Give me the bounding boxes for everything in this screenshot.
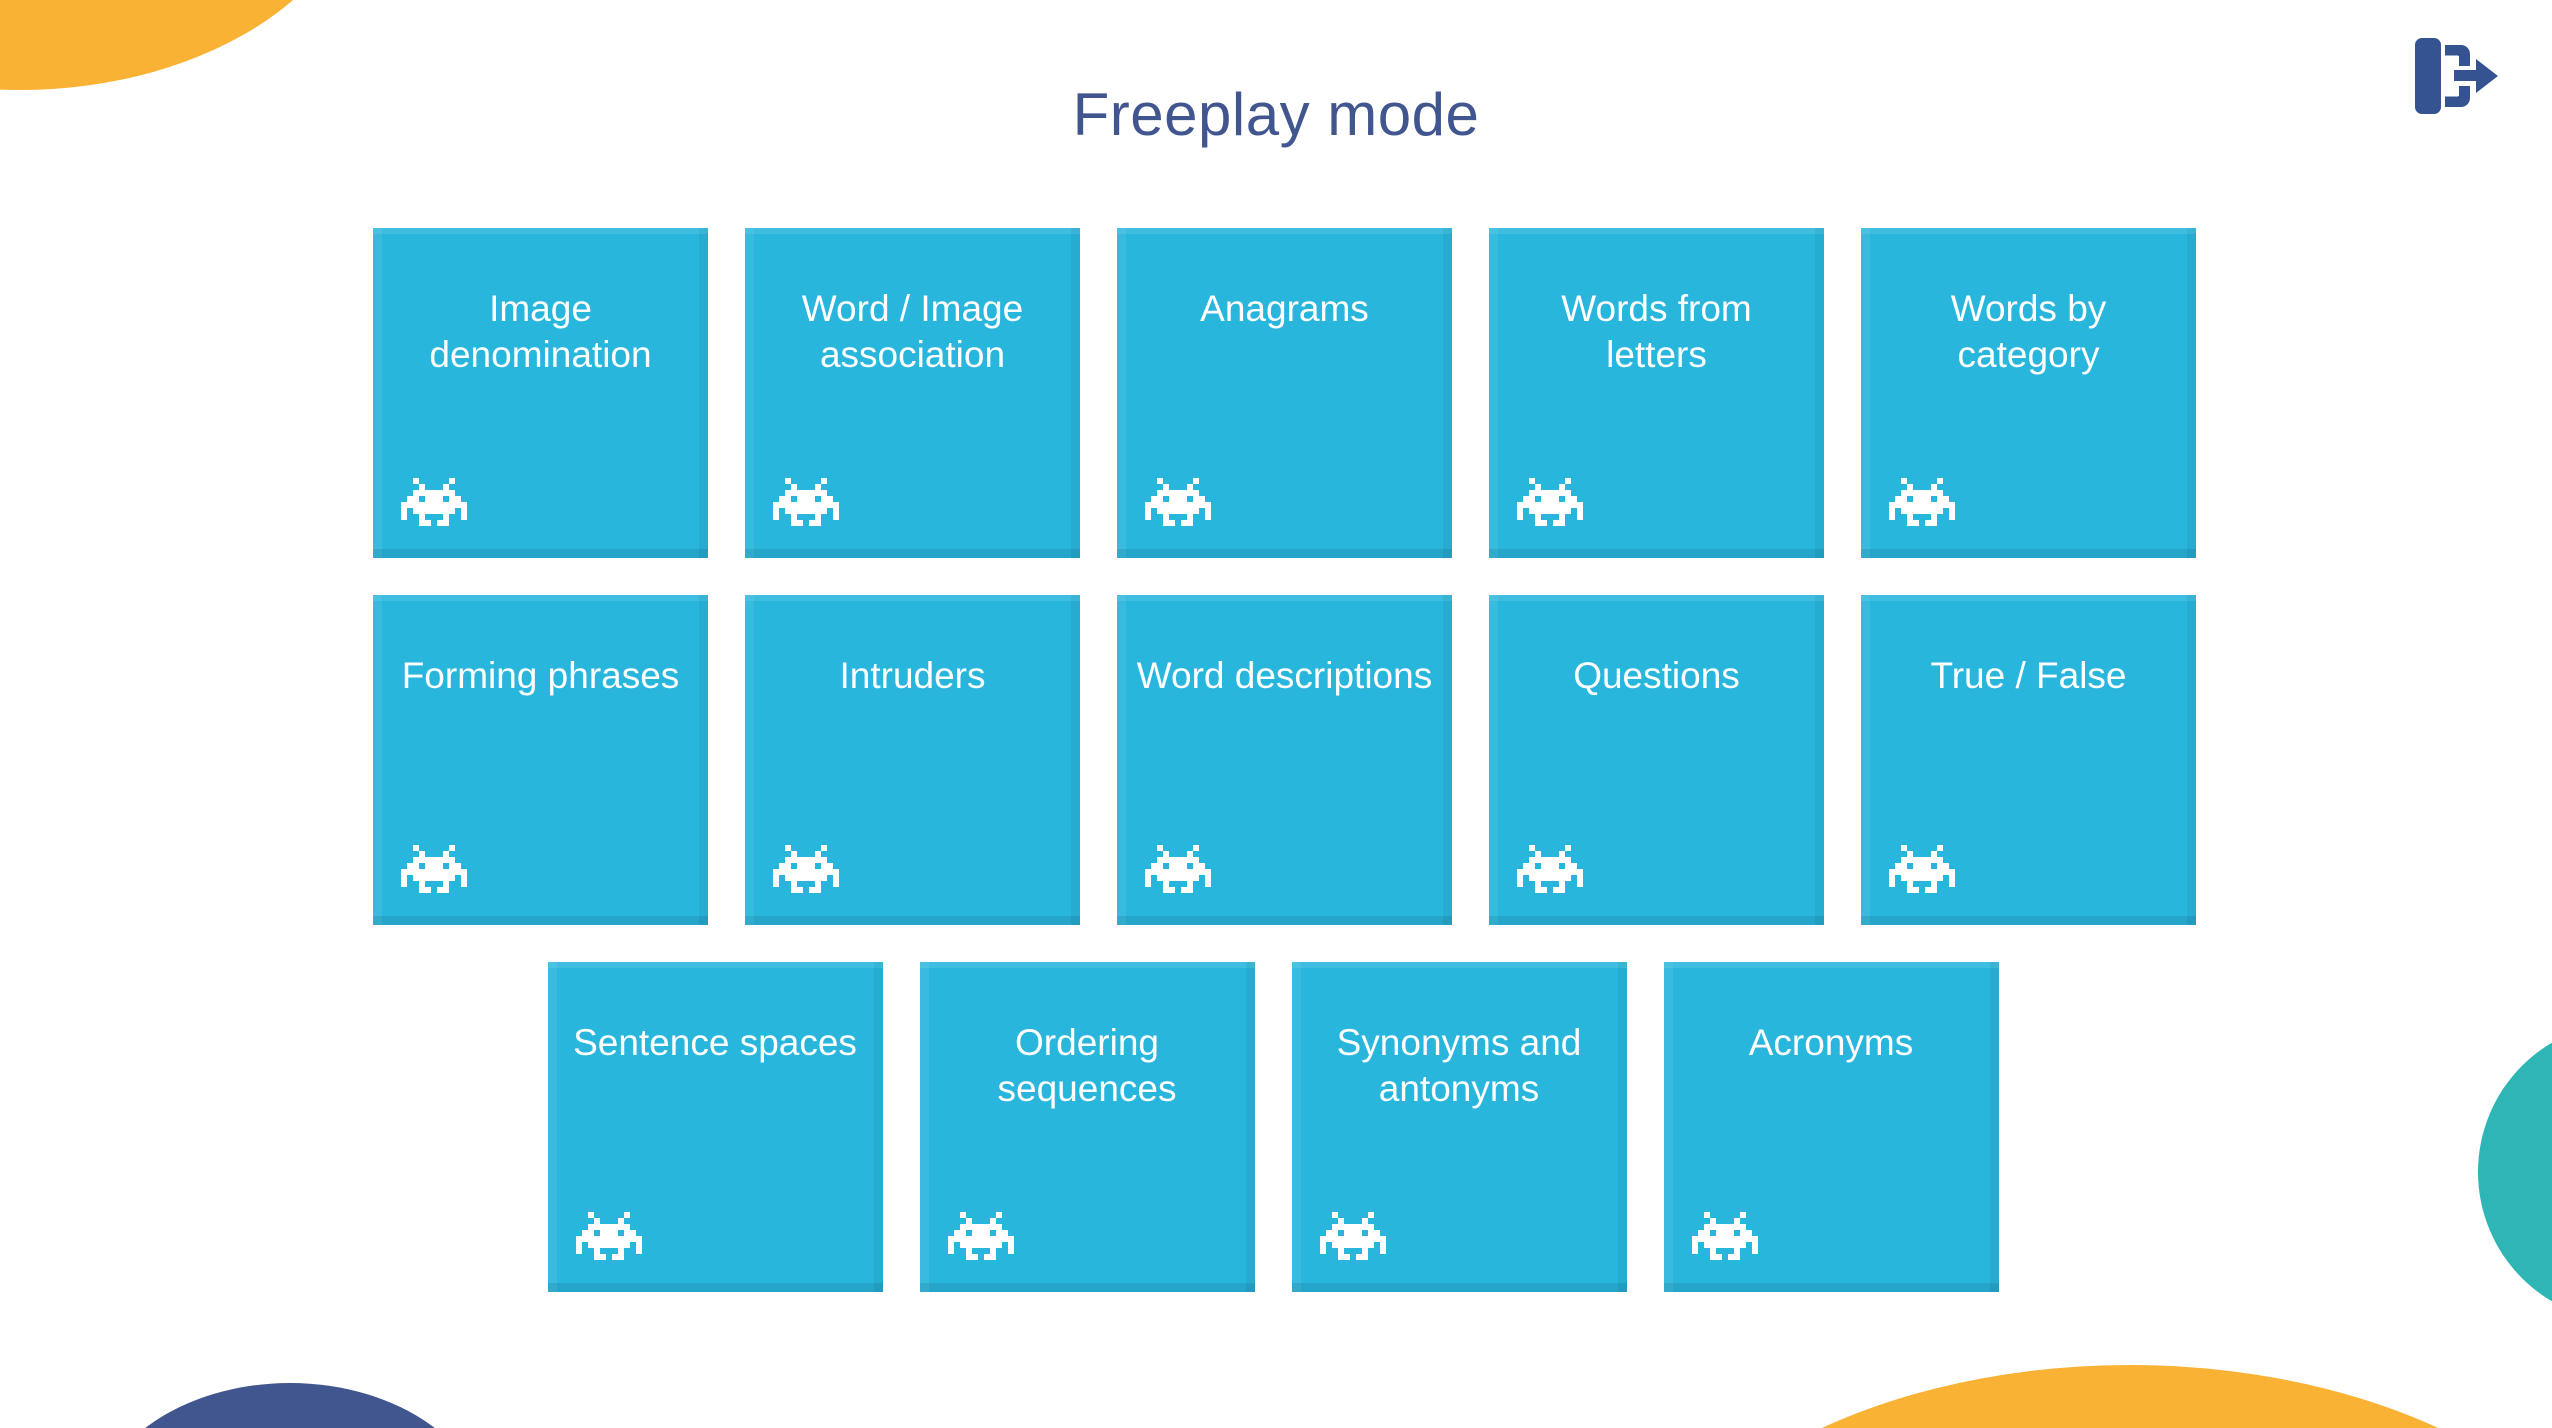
tile-row: Image denomination <box>373 228 2173 558</box>
tile-intruders[interactable]: Intruders <box>745 595 1080 925</box>
tile-label: Intruders <box>763 653 1062 699</box>
tile-label: Words by category <box>1879 286 2178 378</box>
decorative-blob-bottom-right <box>1620 1365 2552 1428</box>
tile-row: Sentence spaces <box>373 962 2173 1292</box>
space-invader-icon <box>576 1212 642 1260</box>
space-invader-icon <box>1517 845 1583 893</box>
space-invader-icon <box>1320 1212 1386 1260</box>
decorative-blob-bottom-left <box>90 1383 490 1428</box>
tile-label: Anagrams <box>1135 286 1434 332</box>
tile-questions[interactable]: Questions <box>1489 595 1824 925</box>
tile-sentence-spaces[interactable]: Sentence spaces <box>548 962 883 1292</box>
space-invader-icon <box>1889 845 1955 893</box>
decorative-blob-right-teal <box>2478 1022 2552 1322</box>
tile-label: Questions <box>1507 653 1806 699</box>
tile-acronyms[interactable]: Acronyms <box>1664 962 1999 1292</box>
tile-ordering-sequences[interactable]: Ordering sequences <box>920 962 1255 1292</box>
tile-label: Image denomination <box>391 286 690 378</box>
space-invader-icon <box>401 845 467 893</box>
space-invader-icon <box>1145 478 1211 526</box>
tile-label: Words from letters <box>1507 286 1806 378</box>
space-invader-icon <box>773 478 839 526</box>
tile-image-denomination[interactable]: Image denomination <box>373 228 708 558</box>
space-invader-icon <box>401 478 467 526</box>
tile-label: Word / Image association <box>763 286 1062 378</box>
tile-word-descriptions[interactable]: Word descriptions <box>1117 595 1452 925</box>
space-invader-icon <box>1517 478 1583 526</box>
tile-words-from-letters[interactable]: Words from letters <box>1489 228 1824 558</box>
page-title: Freeplay mode <box>0 85 2552 145</box>
space-invader-icon <box>1889 478 1955 526</box>
tile-label: Acronyms <box>1682 1020 1981 1066</box>
tile-label: Forming phrases <box>391 653 690 699</box>
freeplay-mode-screen: Freeplay mode Image denomination <box>0 0 2552 1428</box>
tile-label: Word descriptions <box>1135 653 1434 699</box>
tile-word-image-association[interactable]: Word / Image association <box>745 228 1080 558</box>
space-invader-icon <box>773 845 839 893</box>
tile-synonyms-and-antonyms[interactable]: Synonyms and antonyms <box>1292 962 1627 1292</box>
tile-true-false[interactable]: True / False <box>1861 595 2196 925</box>
tile-label: Synonyms and antonyms <box>1310 1020 1609 1112</box>
tile-anagrams[interactable]: Anagrams <box>1117 228 1452 558</box>
tile-words-by-category[interactable]: Words by category <box>1861 228 2196 558</box>
tile-row: Forming phrases <box>373 595 2173 925</box>
tile-label: Sentence spaces <box>566 1020 865 1066</box>
game-mode-grid: Image denomination <box>373 228 2173 1329</box>
tile-label: Ordering sequences <box>938 1020 1237 1112</box>
tile-label: True / False <box>1879 653 2178 699</box>
decorative-blob-top-left <box>0 0 370 90</box>
tile-forming-phrases[interactable]: Forming phrases <box>373 595 708 925</box>
space-invader-icon <box>1145 845 1211 893</box>
space-invader-icon <box>948 1212 1014 1260</box>
space-invader-icon <box>1692 1212 1758 1260</box>
